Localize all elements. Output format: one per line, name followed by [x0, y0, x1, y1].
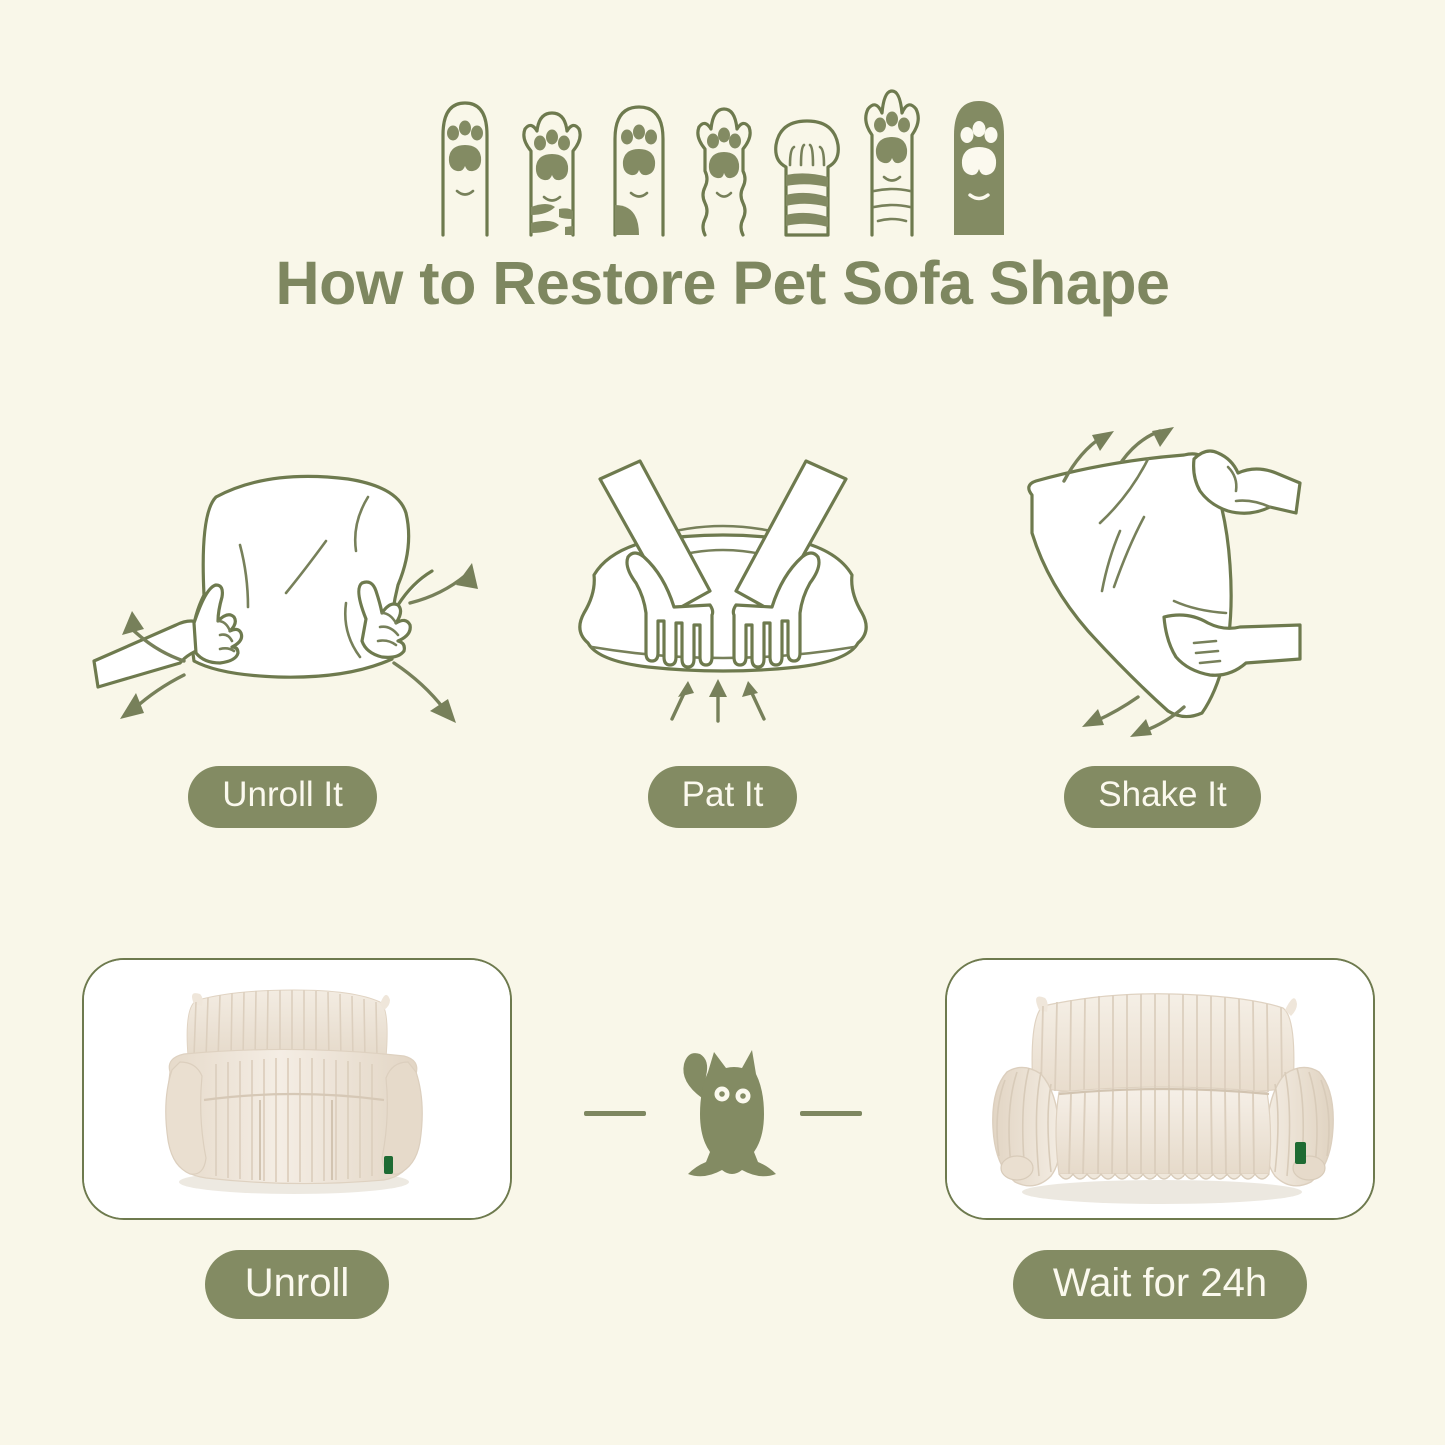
infographic-page: How to Restore Pet Sofa Shape	[0, 0, 1445, 1445]
shake-it-illustration	[943, 425, 1383, 745]
unroll-it-illustration	[63, 425, 503, 745]
brand-tag	[1295, 1142, 1306, 1164]
before-label-unroll: Unroll	[205, 1250, 389, 1319]
step-label-shake-it: Shake It	[1064, 766, 1260, 827]
two-hands-patting-cushion-icon	[548, 435, 898, 735]
paw-mitten-striped-icon	[768, 87, 846, 237]
paw-outline-fluffy-icon	[681, 87, 766, 237]
dash-left-icon	[584, 1111, 646, 1116]
hands-shaking-cushion-icon	[988, 425, 1338, 745]
step-label-unroll-it: Unroll It	[188, 766, 377, 827]
dash-right-icon	[800, 1111, 862, 1116]
paw-outline-striped-icon	[507, 87, 597, 237]
after-label-wait-for-24h: Wait for 24h	[1013, 1250, 1307, 1319]
brand-tag	[384, 1156, 393, 1174]
steps-row: Unroll It	[0, 425, 1445, 845]
cat-paws-row	[0, 62, 1445, 237]
expanded-corduroy-pet-sofa-photo	[947, 960, 1375, 1220]
before-photo-card	[82, 958, 512, 1220]
pat-it-illustration	[503, 425, 943, 745]
page-title: How to Restore Pet Sofa Shape	[0, 248, 1445, 318]
step-label-pat-it: Pat It	[648, 766, 798, 827]
paw-outline-patch-icon	[599, 87, 679, 237]
hands-stretching-cushion-icon	[68, 435, 498, 735]
paw-outline-tabby-icon	[848, 77, 936, 237]
before-after-comparison: Unroll	[0, 958, 1445, 1358]
paw-solid-green-icon	[938, 87, 1020, 237]
compressed-corduroy-pet-sofa-photo	[84, 960, 512, 1220]
step-unroll-it: Unroll It	[63, 425, 503, 845]
step-shake-it: Shake It	[943, 425, 1383, 845]
sitting-cat-silhouette-icon	[664, 1038, 782, 1188]
comparison-divider	[545, 1018, 900, 1208]
step-pat-it: Pat It	[503, 425, 943, 845]
after-photo-card	[945, 958, 1375, 1220]
paw-outline-plain-icon	[425, 87, 505, 237]
